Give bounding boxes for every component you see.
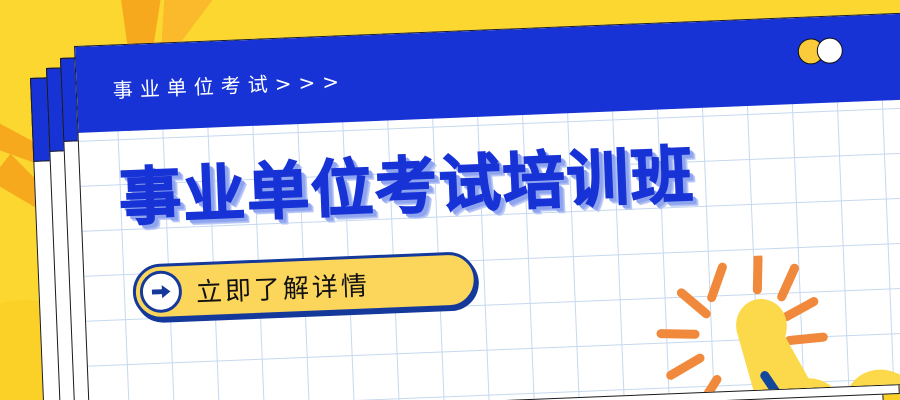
arrow-right-icon [139,270,183,314]
learn-more-label: 立即了解详情 [195,265,370,309]
white-dot-icon [816,37,843,64]
kicker-text: 事业单位考试>>> [112,65,346,103]
header-dots [797,36,856,68]
main-card: 事业单位考试>>> 事业单位考试培训班 立即了解详情 [74,13,900,400]
promo-banner: 事业单位考试>>> 事业单位考试培训班 立即了解详情 [0,0,900,400]
